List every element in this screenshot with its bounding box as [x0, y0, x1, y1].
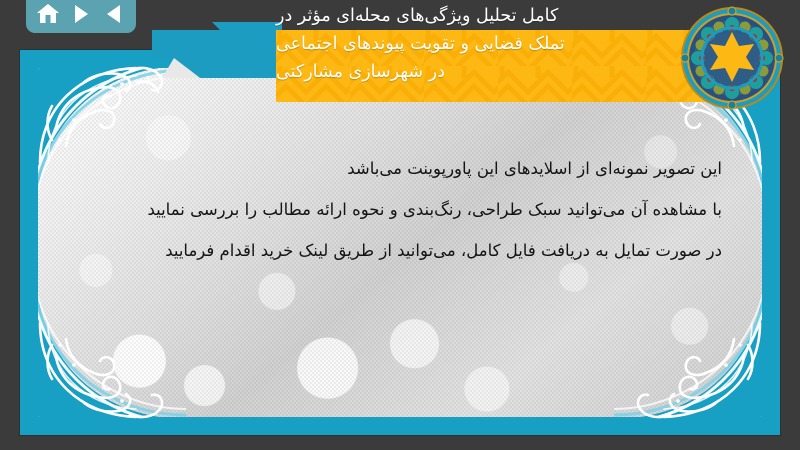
arrow-left-icon	[107, 5, 120, 23]
persian-medallion	[680, 6, 784, 110]
body-line: این تصویر نمونه‌ای از اسلایدهای این پاور…	[78, 148, 722, 189]
body-line: با مشاهده آن می‌توانید سبک طراحی، رنگ‌بن…	[78, 189, 722, 230]
previous-slide-button[interactable]	[101, 2, 127, 26]
home-icon	[36, 3, 60, 25]
next-slide-button[interactable]	[68, 2, 94, 26]
slide-viewer: این تصویر نمونه‌ای از اسلایدهای این پاور…	[0, 0, 800, 450]
islimi-corner-ornament	[624, 311, 774, 431]
title-line: کامل تحلیل ویژگی‌های محله‌ای مؤثر در	[276, 2, 558, 30]
home-button[interactable]	[35, 2, 61, 26]
arrow-right-icon	[75, 5, 88, 23]
title-banner-bar	[276, 30, 714, 102]
body-line: در صورت تمایل به دریافت فایل کامل، می‌تو…	[78, 230, 722, 271]
title-tab-shape	[152, 0, 282, 78]
viewer-navigation-bar	[26, 0, 136, 33]
slide-body-text: این تصویر نمونه‌ای از اسلایدهای این پاور…	[78, 148, 722, 271]
girih-pattern	[276, 30, 714, 102]
islimi-corner-ornament	[26, 311, 176, 431]
